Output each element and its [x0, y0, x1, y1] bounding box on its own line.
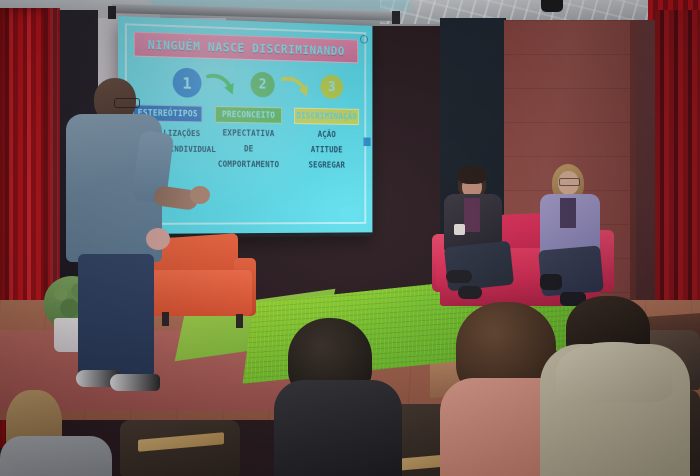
slide-column-preconceito: PRECONCEITO EXPECTATIVA DE COMPORTAMENTO — [212, 106, 285, 222]
presenter-pointing-hand — [190, 186, 210, 204]
panelist-left-hair — [457, 166, 487, 184]
column-heading-3: DISCRIMINAÇÃO — [294, 108, 359, 125]
panelist-left-legs — [444, 241, 514, 292]
step-number-3: 3 — [328, 79, 336, 94]
panelist-right-boot-1 — [540, 274, 562, 290]
panelist-left-shirt — [464, 198, 480, 232]
panelist-left-man — [436, 168, 526, 308]
panelist-left-cup — [454, 224, 465, 235]
audience-body — [274, 380, 402, 476]
step-number-1: 1 — [182, 73, 191, 92]
panelist-left-shoe-1 — [446, 270, 472, 283]
panelist-right-glasses-icon — [559, 178, 580, 186]
panelist-right-top — [560, 198, 576, 228]
screen-edge-marker-right — [364, 138, 371, 147]
screen-corner-dot-icon — [360, 35, 368, 44]
arrow-1-to-2-icon — [205, 70, 239, 98]
audience-member-blonde — [0, 390, 110, 476]
panelist-left-shoe-2 — [458, 286, 482, 299]
column-2-line-3: COMPORTAMENTO — [214, 160, 283, 170]
column-3-line-1: AÇÃO — [293, 130, 359, 141]
audience-body — [0, 436, 112, 476]
audience-hood — [556, 342, 672, 402]
presenter-shoe-right — [110, 374, 160, 391]
column-3-line-2: ATITUDE — [293, 145, 359, 155]
slide-title-text: NINGUÉM NASCE DISCRIMINANDO — [148, 37, 345, 58]
curtain-right — [655, 10, 700, 340]
presenter-glasses-icon — [114, 98, 140, 108]
step-circle-2: 2 — [251, 72, 275, 98]
screen-roller-cap-right — [392, 11, 400, 24]
column-3-line-3: SEGREGAR — [293, 161, 359, 171]
slide-column-discriminacao: DISCRIMINAÇÃO AÇÃO ATITUDE SEGREGAR — [291, 108, 362, 222]
step-circle-1: 1 — [173, 68, 202, 98]
step-circle-3: 3 — [320, 75, 343, 99]
presenter — [62, 78, 172, 398]
screenshot-scene: NINGUÉM NASCE DISCRIMINANDO 1 2 — [0, 0, 700, 476]
audience-member-dark-jacket — [274, 318, 404, 476]
screen-roller-cap-left — [108, 6, 116, 19]
column-heading-2: PRECONCEITO — [215, 106, 282, 124]
presenter-resting-hand — [146, 228, 170, 250]
column-2-line-2: DE — [214, 144, 283, 155]
presenter-pants — [78, 254, 154, 376]
column-2-line-1: EXPECTATIVA — [214, 129, 283, 140]
audience-member-beige-hoodie — [540, 296, 690, 476]
step-number-2: 2 — [259, 77, 267, 93]
panelist-right-woman — [534, 164, 620, 312]
armchair-leg-right — [236, 314, 243, 328]
projector-mount — [541, 0, 563, 12]
arrow-2-to-3-icon — [280, 73, 313, 101]
